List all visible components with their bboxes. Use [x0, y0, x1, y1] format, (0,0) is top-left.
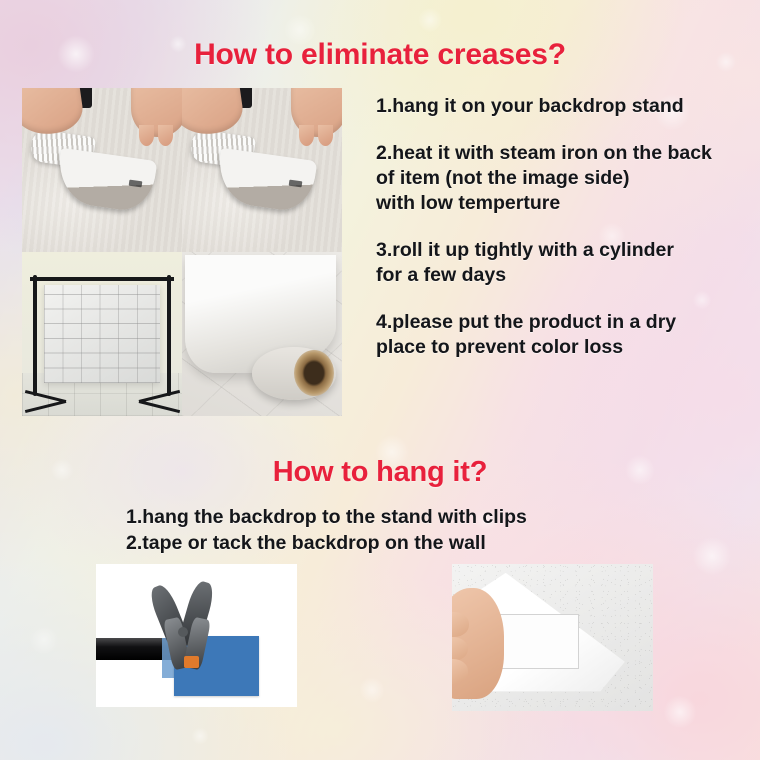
- creases-step-1: 1.hang it on your backdrop stand: [376, 94, 754, 119]
- page-title-how-to-hang: How to hang it?: [0, 456, 760, 489]
- cardboard-cylinder: [252, 347, 335, 399]
- hang-step-1: 1.hang the backdrop to the stand with cl…: [126, 504, 646, 530]
- photo-peeling-adhesive-corner: [452, 564, 653, 711]
- creases-step-3: 3.roll it up tightly with a cylinderfor …: [376, 238, 754, 288]
- brick-pattern-backdrop: [44, 285, 159, 383]
- instruction-poster: How to eliminate creases?: [0, 0, 760, 760]
- page-title-eliminate-creases: How to eliminate creases?: [0, 38, 760, 72]
- photo-steam-iron-right: [182, 88, 342, 252]
- finger: [452, 612, 469, 637]
- photo-steam-iron-left: [22, 88, 182, 252]
- stand-pole-left: [33, 275, 37, 396]
- stand-pole-right: [167, 275, 171, 396]
- finger: [452, 659, 468, 684]
- creases-photo-collage: [22, 88, 342, 416]
- hang-step-2: 2.tape or tack the backdrop on the wall: [126, 530, 646, 556]
- stand-crossbar: [30, 277, 174, 281]
- hang-step-list: 1.hang the backdrop to the stand with cl…: [126, 504, 646, 556]
- photo-spring-clamp-on-bar: [96, 564, 297, 707]
- adhesive-tape-square: [500, 614, 578, 669]
- photo-rolled-backdrop: [182, 252, 342, 416]
- clamp-rubber-tip: [184, 656, 198, 669]
- iron-soleplate: [215, 148, 318, 214]
- finger: [452, 637, 468, 662]
- hand-right: [131, 88, 182, 137]
- creases-step-list: 1.hang it on your backdrop stand 2.heat …: [376, 94, 754, 360]
- hand-right: [291, 88, 342, 137]
- creases-step-2: 2.heat it with steam iron on the backof …: [376, 141, 754, 216]
- hand-holding-corner: [452, 588, 504, 700]
- iron-soleplate: [55, 148, 158, 214]
- creases-step-4: 4.please put the product in a dryplace t…: [376, 310, 754, 360]
- photo-backdrop-on-stand: [22, 252, 182, 416]
